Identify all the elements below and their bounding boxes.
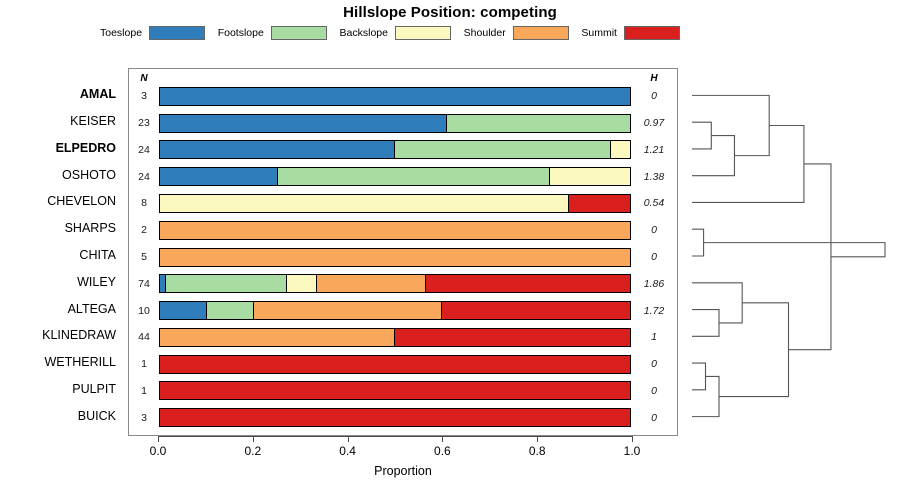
h-value: 1.72 — [631, 305, 677, 317]
table-row[interactable] — [159, 381, 631, 400]
bar-segment-shoulder[interactable] — [317, 275, 425, 292]
h-value: 0 — [631, 224, 677, 236]
table-row[interactable] — [159, 140, 631, 159]
legend-swatch-summit — [624, 26, 680, 40]
y-axis-label: KEISER — [0, 114, 116, 128]
bar-segment-shoulder[interactable] — [160, 222, 630, 239]
legend-label: Toeslope — [100, 27, 142, 39]
x-axis-tick — [632, 436, 633, 442]
h-cell: 0 — [631, 351, 677, 378]
bar-segment-shoulder[interactable] — [254, 302, 442, 319]
x-axis-tick-label: 0.0 — [150, 444, 167, 458]
legend-entry: Summit — [581, 26, 680, 40]
table-row[interactable] — [159, 221, 631, 240]
bar-segment-shoulder[interactable] — [160, 329, 395, 346]
y-axis-label: OSHOTO — [0, 168, 116, 182]
bar-segment-summit[interactable] — [160, 356, 630, 373]
dendrogram-tree — [680, 68, 895, 436]
x-axis-tick — [442, 436, 443, 442]
bar-segment-footslope[interactable] — [207, 302, 254, 319]
x-axis-tick-label: 0.4 — [339, 444, 356, 458]
legend-label: Summit — [581, 27, 617, 39]
bar-segment-footslope[interactable] — [395, 141, 611, 158]
x-axis-line — [158, 436, 632, 437]
n-cell: 24 — [129, 136, 159, 163]
n-cell: 10 — [129, 297, 159, 324]
table-row[interactable] — [159, 248, 631, 267]
page-title: Hillslope Position: competing — [0, 4, 900, 21]
bar-segment-backslope[interactable] — [287, 275, 318, 292]
n-cell: 1 — [129, 351, 159, 378]
table-row[interactable] — [159, 408, 631, 427]
bar-segment-footslope[interactable] — [278, 168, 551, 185]
n-value: 2 — [129, 224, 159, 236]
table-row[interactable] — [159, 114, 631, 133]
legend-label: Footslope — [218, 27, 264, 39]
h-value: 0.97 — [631, 117, 677, 129]
h-cell: 0 — [631, 83, 677, 110]
table-row[interactable] — [159, 167, 631, 186]
h-cell: 0.97 — [631, 110, 677, 137]
n-value: 1 — [129, 385, 159, 397]
h-value: 1 — [631, 331, 677, 343]
bar-segment-summit[interactable] — [426, 275, 630, 292]
h-cell: 1.72 — [631, 297, 677, 324]
table-row[interactable] — [159, 355, 631, 374]
x-axis-tick-label: 0.6 — [434, 444, 451, 458]
legend-entry: Backslope — [340, 26, 451, 40]
y-axis-label: ELPEDRO — [0, 141, 116, 155]
h-cell: 1.86 — [631, 270, 677, 297]
y-axis-label: KLINEDRAW — [0, 328, 116, 342]
n-value: 23 — [129, 117, 159, 129]
h-value: 0 — [631, 385, 677, 397]
table-row[interactable] — [159, 194, 631, 213]
legend-swatch-toeslope — [149, 26, 205, 40]
bar-segment-toeslope[interactable] — [160, 88, 630, 105]
bar-segment-summit[interactable] — [160, 382, 630, 399]
bar-segment-summit[interactable] — [395, 329, 630, 346]
x-axis-tick-label: 0.8 — [529, 444, 546, 458]
y-axis-label: BUICK — [0, 409, 116, 423]
bar-segment-toeslope[interactable] — [160, 141, 395, 158]
bar-segment-summit[interactable] — [569, 195, 630, 212]
bars-column — [159, 69, 631, 435]
n-value: 24 — [129, 171, 159, 183]
n-cell: 2 — [129, 217, 159, 244]
chart-root: Hillslope Position: competing ToeslopeFo… — [0, 0, 900, 500]
y-axis-labels: AMALKEISERELPEDROOSHOTOCHEVELONSHARPSCHI… — [0, 68, 122, 436]
bar-segment-summit[interactable] — [442, 302, 630, 319]
x-axis: 0.00.20.40.60.81.0 — [128, 436, 678, 466]
bar-segment-footslope[interactable] — [166, 275, 287, 292]
h-cell: 1.38 — [631, 163, 677, 190]
h-cell: 0 — [631, 217, 677, 244]
h-value: 0.54 — [631, 197, 677, 209]
table-row[interactable] — [159, 301, 631, 320]
table-row[interactable] — [159, 328, 631, 347]
h-cell: 0 — [631, 244, 677, 271]
h-cell: 1.21 — [631, 136, 677, 163]
x-axis-tick — [537, 436, 538, 442]
table-row[interactable] — [159, 87, 631, 106]
h-column: H 00.971.211.380.54001.861.721000 — [631, 69, 677, 435]
legend-swatch-shoulder — [513, 26, 569, 40]
n-value: 1 — [129, 358, 159, 370]
n-value: 8 — [129, 197, 159, 209]
legend-label: Backslope — [340, 27, 388, 39]
legend-label: Shoulder — [464, 27, 506, 39]
h-value: 0 — [631, 358, 677, 370]
bar-segment-toeslope[interactable] — [160, 302, 207, 319]
n-value: 3 — [129, 412, 159, 424]
plot-panel: N 3232424825741044113 H 00.971.211.380.5… — [128, 68, 678, 436]
y-axis-label: WILEY — [0, 275, 116, 289]
bar-segment-footslope[interactable] — [447, 115, 630, 132]
n-value: 3 — [129, 90, 159, 102]
table-row[interactable] — [159, 274, 631, 293]
bar-segment-summit[interactable] — [160, 409, 630, 426]
bar-segment-toeslope[interactable] — [160, 168, 278, 185]
h-cell: 0.54 — [631, 190, 677, 217]
n-cell: 8 — [129, 190, 159, 217]
h-cell: 1 — [631, 324, 677, 351]
n-cell: 5 — [129, 244, 159, 271]
y-axis-label: PULPIT — [0, 382, 116, 396]
n-cell: 23 — [129, 110, 159, 137]
h-value: 0 — [631, 251, 677, 263]
legend-entry: Shoulder — [464, 26, 569, 40]
h-value: 0 — [631, 90, 677, 102]
x-axis-tick — [253, 436, 254, 442]
n-cell: 74 — [129, 270, 159, 297]
legend-swatch-backslope — [395, 26, 451, 40]
n-value: 44 — [129, 331, 159, 343]
n-value: 10 — [129, 305, 159, 317]
y-axis-label: SHARPS — [0, 221, 116, 235]
bar-segment-backslope[interactable] — [550, 168, 630, 185]
bar-segment-backslope[interactable] — [160, 195, 569, 212]
n-cell: 44 — [129, 324, 159, 351]
legend: ToeslopeFootslopeBackslopeShoulderSummit — [100, 24, 680, 42]
n-value: 24 — [129, 144, 159, 156]
y-axis-label: CHITA — [0, 248, 116, 262]
legend-entry: Footslope — [218, 26, 327, 40]
y-axis-label: CHEVELON — [0, 194, 116, 208]
n-cell: 3 — [129, 404, 159, 431]
dendrogram — [680, 68, 895, 436]
bar-segment-toeslope[interactable] — [160, 115, 447, 132]
legend-entry: Toeslope — [100, 26, 205, 40]
y-axis-label: AMAL — [0, 87, 116, 101]
bar-segment-shoulder[interactable] — [160, 249, 630, 266]
x-axis-tick — [348, 436, 349, 442]
h-cell: 0 — [631, 404, 677, 431]
n-cell: 1 — [129, 377, 159, 404]
h-value: 1.38 — [631, 171, 677, 183]
h-value: 1.86 — [631, 278, 677, 290]
x-axis-tick — [158, 436, 159, 442]
n-column: N 3232424825741044113 — [129, 69, 159, 435]
x-axis-title: Proportion — [128, 464, 678, 478]
x-axis-tick-label: 0.2 — [244, 444, 261, 458]
h-cell: 0 — [631, 377, 677, 404]
x-axis-tick-label: 1.0 — [624, 444, 641, 458]
h-value: 0 — [631, 412, 677, 424]
bar-segment-backslope[interactable] — [611, 141, 630, 158]
n-value: 5 — [129, 251, 159, 263]
legend-swatch-footslope — [271, 26, 327, 40]
n-cell: 24 — [129, 163, 159, 190]
n-cell: 3 — [129, 83, 159, 110]
y-axis-label: WETHERILL — [0, 355, 116, 369]
n-value: 74 — [129, 278, 159, 290]
y-axis-label: ALTEGA — [0, 302, 116, 316]
h-value: 1.21 — [631, 144, 677, 156]
